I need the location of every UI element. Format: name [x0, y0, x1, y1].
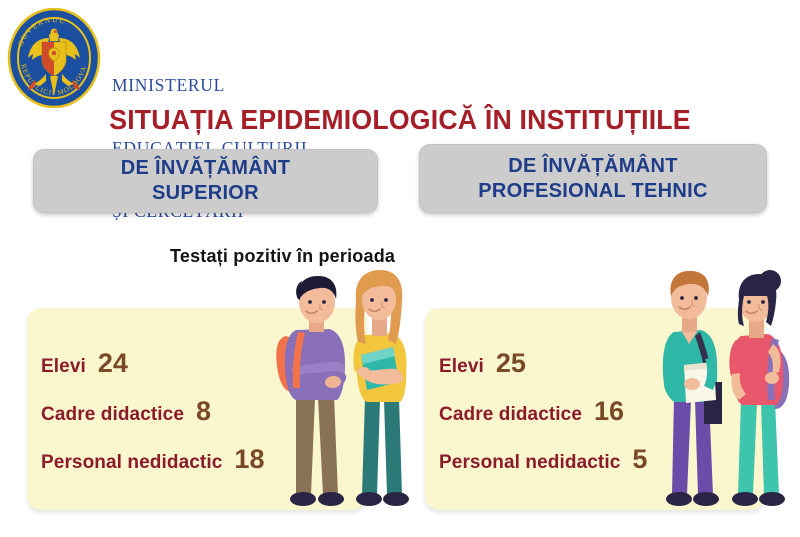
category-box-profesional-tehnic[interactable]: DE ÎNVĂȚĂMÂNT PROFESIONAL TEHNIC: [419, 144, 767, 213]
page-title: SITUAȚIA EPIDEMIOLOGICĂ ÎN INSTITUȚIILE: [12, 104, 788, 136]
stat-row: Cadre didactice 16: [439, 396, 624, 427]
category-box-superior[interactable]: DE ÎNVĂȚĂMÂNT SUPERIOR: [33, 149, 378, 213]
stat-label: Elevi: [439, 356, 484, 378]
stat-label: Personal nedidactic: [439, 452, 620, 474]
stat-value: 16: [594, 396, 624, 427]
stat-label: Cadre didactice: [439, 404, 582, 426]
stat-value: 8: [196, 396, 211, 427]
stats-panel-profesional-tehnic: Elevi 25 Cadre didactice 16 Personal ned…: [425, 308, 765, 510]
stat-row: Elevi 25: [439, 348, 526, 379]
stat-label: Elevi: [41, 356, 86, 378]
stat-value: 24: [98, 348, 128, 379]
stat-row: Personal nedidactic 18: [41, 444, 264, 475]
moldova-government-emblem-icon: GUVERNUL REPUBLICII MOLDOVA: [6, 8, 102, 108]
stat-value: 25: [496, 348, 526, 379]
stat-label: Personal nedidactic: [41, 452, 222, 474]
ministry-line-1: MINISTERUL: [112, 75, 307, 96]
category-profesional-tehnic-line-1: DE ÎNVĂȚĂMÂNT: [478, 154, 708, 179]
category-superior-line-2: SUPERIOR: [121, 181, 290, 206]
category-superior-line-1: DE ÎNVĂȚĂMÂNT: [121, 156, 290, 181]
infographic-root: GUVERNUL REPUBLICII MOLDOVA: [0, 0, 800, 537]
stat-row: Cadre didactice 8: [41, 396, 211, 427]
category-profesional-tehnic-line-2: PROFESIONAL TEHNIC: [478, 179, 708, 204]
stat-value: 5: [632, 444, 647, 475]
subtitle: Testați pozitiv în perioada: [170, 246, 395, 267]
stat-label: Cadre didactice: [41, 404, 184, 426]
stat-row: Personal nedidactic 5: [439, 444, 647, 475]
stat-value: 18: [234, 444, 264, 475]
stats-panel-superior: Elevi 24 Cadre didactice 8 Personal nedi…: [27, 308, 367, 510]
stat-row: Elevi 24: [41, 348, 128, 379]
